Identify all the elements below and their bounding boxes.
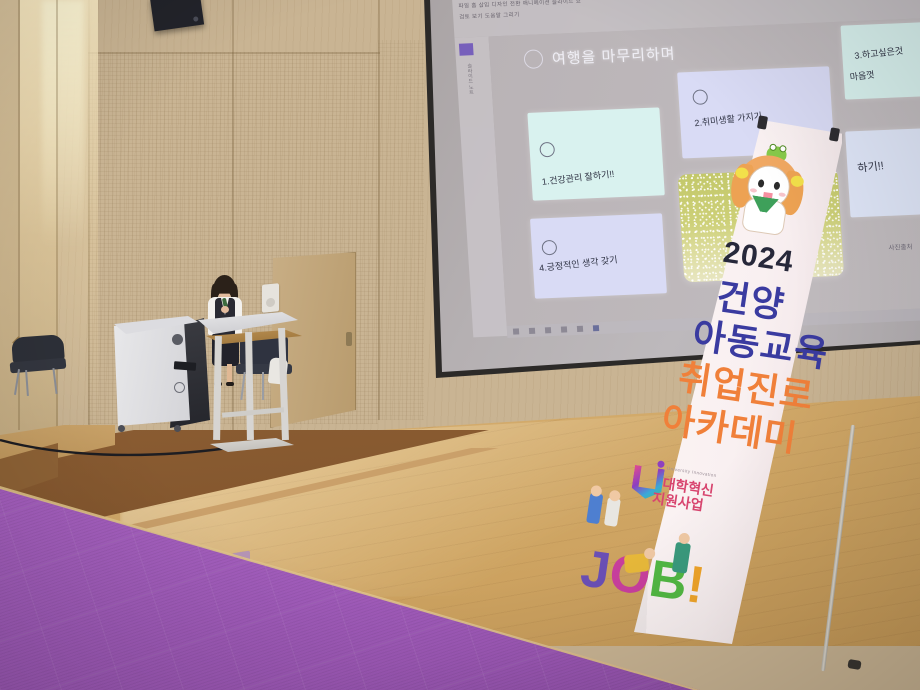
wall-control-box[interactable] xyxy=(262,283,279,312)
menu-row-1[interactable]: 파일 홈 삽입 디자인 전환 애니메이션 슬라이드 쇼 xyxy=(458,0,581,10)
smiley-icon xyxy=(539,142,555,158)
slide-credit: 사진출처 xyxy=(888,241,913,252)
chair-left xyxy=(8,336,70,398)
menu-row-2[interactable]: 검토 보기 도움말 그리기 xyxy=(459,10,520,21)
slide-card-3: 3.하고싶은것 마음껏 xyxy=(841,19,920,99)
figure-icon-1 xyxy=(586,493,603,525)
slide-card-3-text: 3.하고싶은것 xyxy=(854,43,904,61)
smiley-icon xyxy=(692,89,708,105)
panel-seam-3 xyxy=(378,0,380,420)
logo-dot-icon xyxy=(657,460,665,468)
slide-title: 여행을 마무리하며 xyxy=(551,43,676,69)
rollup-banner: 2024 건양 아동교육 취업진로 아카데미 University Innova… xyxy=(612,120,842,660)
slide-card-5-text: 하기!! xyxy=(856,157,884,176)
mascot-icon xyxy=(725,141,811,237)
figure-icon-2 xyxy=(604,497,621,527)
presentation-hall-photo: 파일 홈 삽입 디자인 전환 애니메이션 슬라이드 쇼 검토 보기 도움말 그리… xyxy=(0,0,920,690)
smiley-icon xyxy=(541,240,557,256)
door-handle[interactable] xyxy=(346,332,352,346)
rail-label: 슬라이드 노트 xyxy=(464,63,475,95)
av-cabinet xyxy=(112,310,204,430)
circle-icon xyxy=(523,49,543,69)
cabinet-knob-icon xyxy=(172,334,183,345)
slide-thumbnail[interactable] xyxy=(459,43,474,56)
slide-card-3b-text: 마음껏 xyxy=(849,68,875,84)
banner-stand-foot xyxy=(847,659,861,670)
wall-light-hotspot xyxy=(42,0,84,250)
panel-seam-h xyxy=(88,52,380,54)
cabinet-ring-icon xyxy=(174,382,185,393)
lectern xyxy=(196,312,302,452)
slide-card-5: 하기!! ♡ xyxy=(845,125,920,217)
cabinet-label-plate xyxy=(174,361,197,371)
